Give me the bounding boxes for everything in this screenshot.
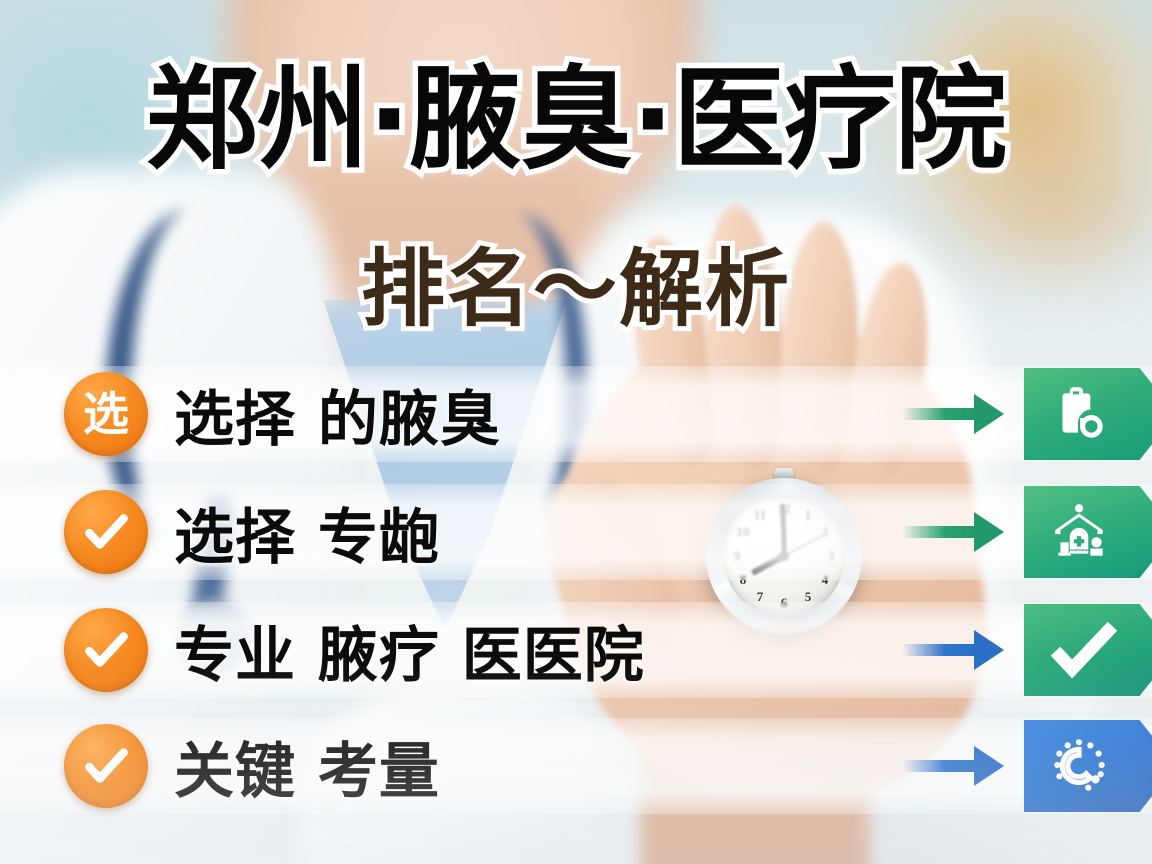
feature-row-label: 选择 的腋臭 [174, 371, 501, 458]
feature-row-label: 关键 考量 [174, 723, 440, 810]
feature-row-label: 选择 专龅 [174, 489, 440, 576]
feature-row-4[interactable]: 关键 考量 [64, 718, 1104, 814]
checkmark-icon [81, 741, 131, 791]
checkmark-icon [81, 507, 131, 557]
check-circle-icon [64, 608, 148, 692]
hospital-building-icon [1046, 499, 1112, 565]
chevron-tag-4[interactable] [1024, 720, 1152, 812]
bacteria-analysis-icon [1046, 733, 1112, 799]
arrow-right-icon [902, 394, 1012, 434]
checkmark-icon [1046, 612, 1122, 688]
doctor-lips [392, 118, 522, 148]
check-circle-icon [64, 724, 148, 808]
arrow-right-icon [902, 746, 1012, 786]
check-circle-icon [64, 490, 148, 574]
background-furniture-warm-2 [930, 120, 1152, 300]
checkmark-icon [81, 625, 131, 675]
feature-row-1[interactable]: 选 选择 的腋臭 [64, 366, 1104, 462]
select-character-badge: 选 [64, 372, 148, 456]
feature-row-label: 专业 腋疗 医医院 [174, 607, 645, 694]
chevron-tag-1[interactable] [1024, 368, 1152, 460]
feature-row-2[interactable]: 选择 专龅 [64, 484, 1104, 580]
arrow-right-icon [902, 512, 1012, 552]
poster-canvas: 12 1 2 3 4 5 6 7 8 9 10 11 郑州·腋臭·医疗院 [0, 0, 1152, 864]
feature-row-3[interactable]: 专业 腋疗 医医院 [64, 602, 1104, 698]
clipboard-search-icon [1046, 381, 1112, 447]
chevron-tag-3[interactable] [1024, 604, 1152, 696]
arrow-right-icon [902, 630, 1012, 670]
chevron-tag-2[interactable] [1024, 486, 1152, 578]
badge-character: 选 [83, 391, 129, 437]
